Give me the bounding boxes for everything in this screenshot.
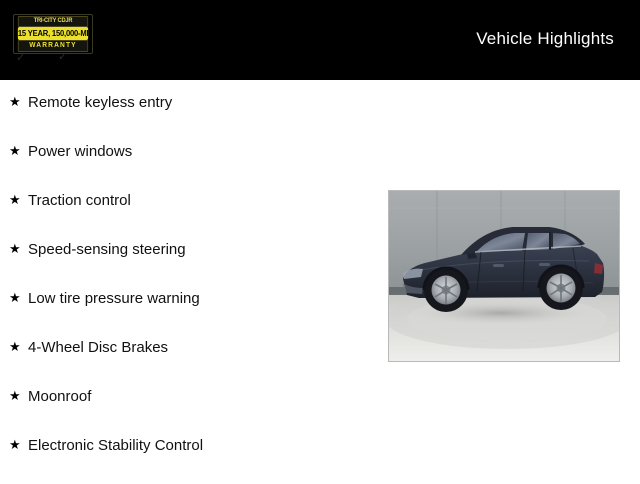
page-title: Vehicle Highlights: [476, 29, 614, 49]
highlight-label: Power windows: [28, 141, 132, 163]
list-item: ★ Electronic Stability Control: [0, 435, 380, 484]
vehicle-photo-image: [389, 191, 619, 361]
check-icon: ✓: [16, 52, 25, 63]
star-bullet-icon: ★: [9, 190, 28, 212]
list-item: ★ Traction control: [0, 190, 380, 239]
vehicle-photo[interactable]: [388, 190, 620, 362]
highlight-label: Traction control: [28, 190, 131, 212]
badge-checkmarks: ✓ ✓: [14, 51, 94, 67]
list-item: ★ Moonroof: [0, 386, 380, 435]
check-icon: ✓: [58, 51, 67, 62]
badge-dealer-name: TRI-CITY CDJR: [18, 16, 88, 27]
dealer-warranty-badge[interactable]: TRI-CITY CDJR 15 YEAR, 150,000-MILE WARR…: [13, 14, 93, 54]
badge-warranty-term: 15 YEAR, 150,000-MILE: [18, 27, 88, 40]
star-bullet-icon: ★: [9, 288, 28, 310]
highlight-label: Electronic Stability Control: [28, 435, 203, 457]
list-item: ★ Low tire pressure warning: [0, 288, 380, 337]
vehicle-highlights-list: ★ Remote keyless entry ★ Power windows ★…: [0, 92, 380, 484]
star-bullet-icon: ★: [9, 239, 28, 261]
list-item: ★ 4-Wheel Disc Brakes: [0, 337, 380, 386]
header-bar: Vehicle Highlights: [0, 0, 640, 80]
highlight-label: 4-Wheel Disc Brakes: [28, 337, 168, 359]
highlight-label: Moonroof: [28, 386, 91, 408]
highlight-label: Speed-sensing steering: [28, 239, 186, 261]
highlight-label: Remote keyless entry: [28, 92, 172, 114]
star-bullet-icon: ★: [9, 141, 28, 163]
star-bullet-icon: ★: [9, 435, 28, 457]
list-item: ★ Remote keyless entry: [0, 92, 380, 141]
list-item: ★ Power windows: [0, 141, 380, 190]
highlight-label: Low tire pressure warning: [28, 288, 200, 310]
list-item: ★ Speed-sensing steering: [0, 239, 380, 288]
star-bullet-icon: ★: [9, 337, 28, 359]
star-bullet-icon: ★: [9, 386, 28, 408]
star-bullet-icon: ★: [9, 92, 28, 114]
